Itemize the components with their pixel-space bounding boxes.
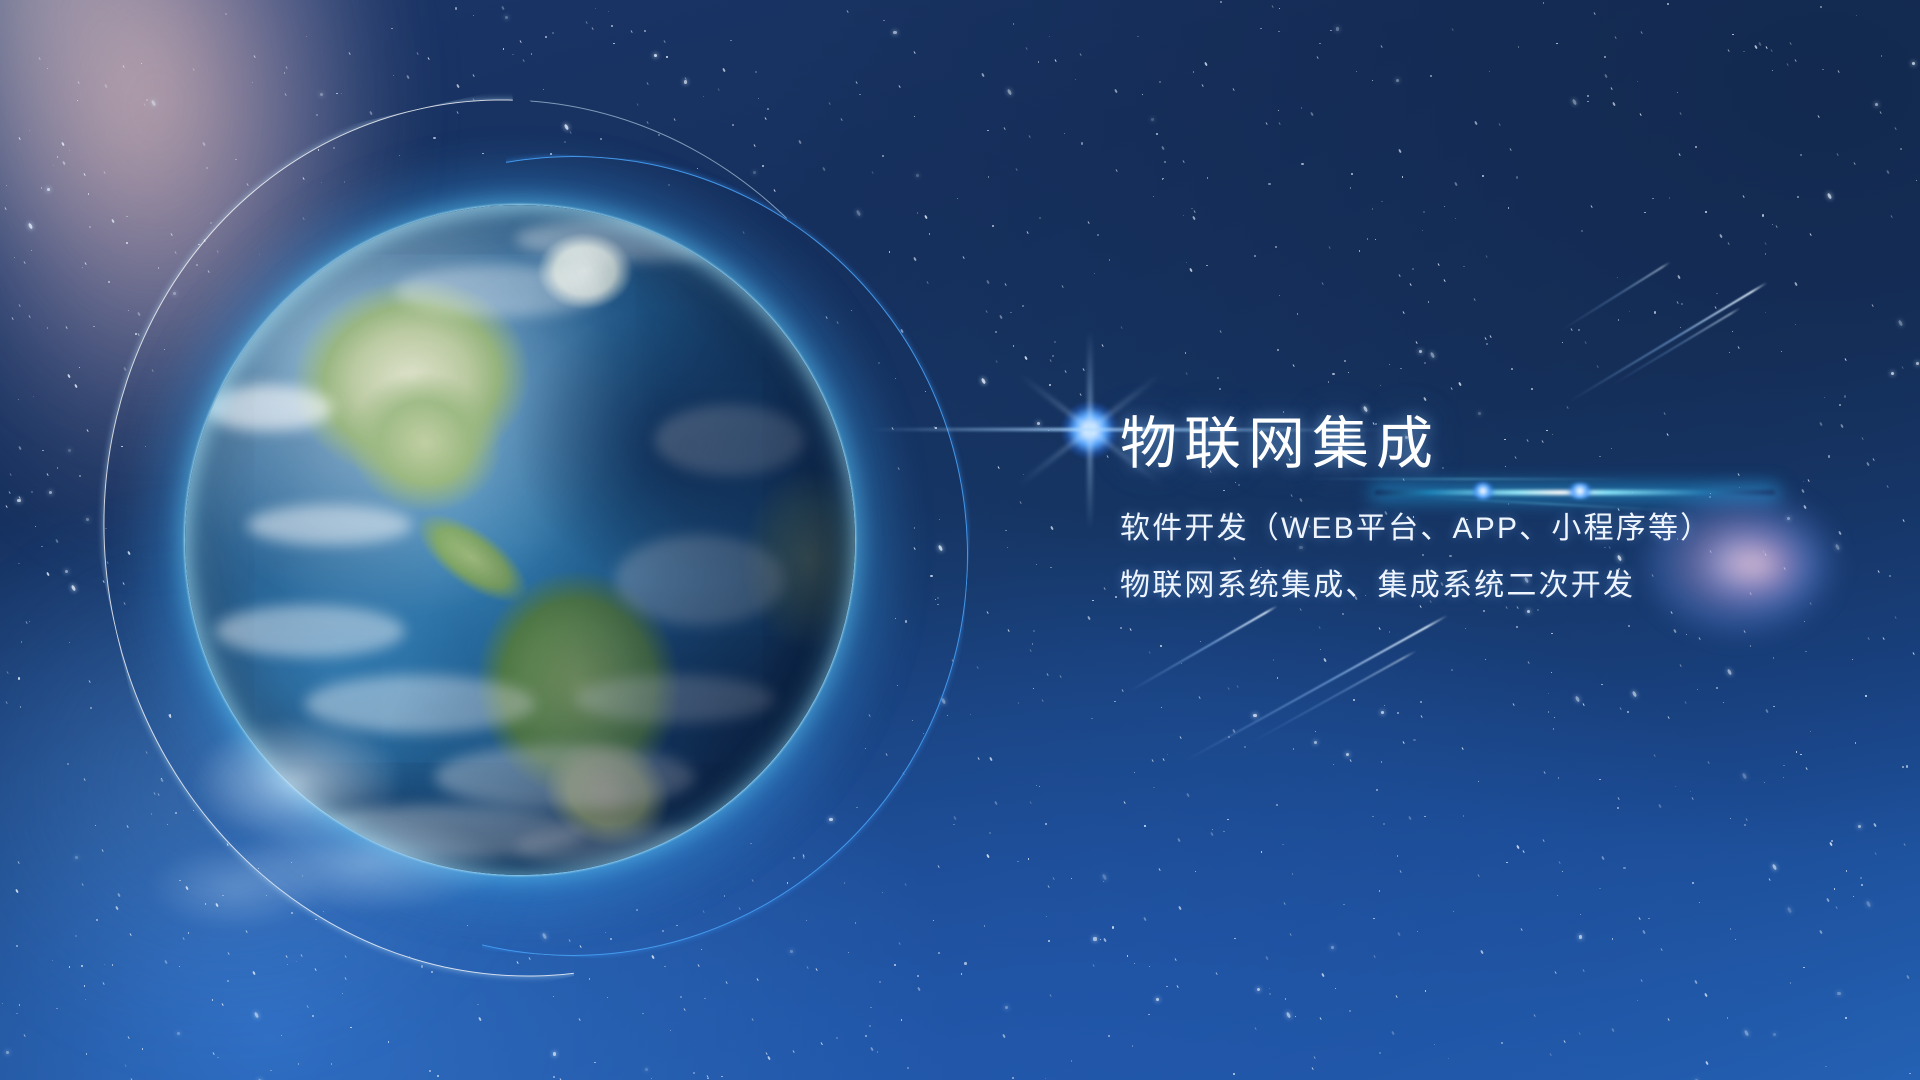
page-title: 物联网集成	[1120, 414, 1840, 476]
earth-globe	[150, 170, 890, 910]
banner-subline-1: 软件开发（WEB平台、APP、小程序等）	[1120, 510, 1840, 548]
banner-copy: 物联网集成 软件开发（WEB平台、APP、小程序等） 物联网系统集成、集成系统二…	[1120, 414, 1840, 605]
banner-subline-2: 物联网系统集成、集成系统二次开发	[1120, 567, 1840, 605]
hero-banner: 物联网集成 软件开发（WEB平台、APP、小程序等） 物联网系统集成、集成系统二…	[0, 0, 1920, 1080]
